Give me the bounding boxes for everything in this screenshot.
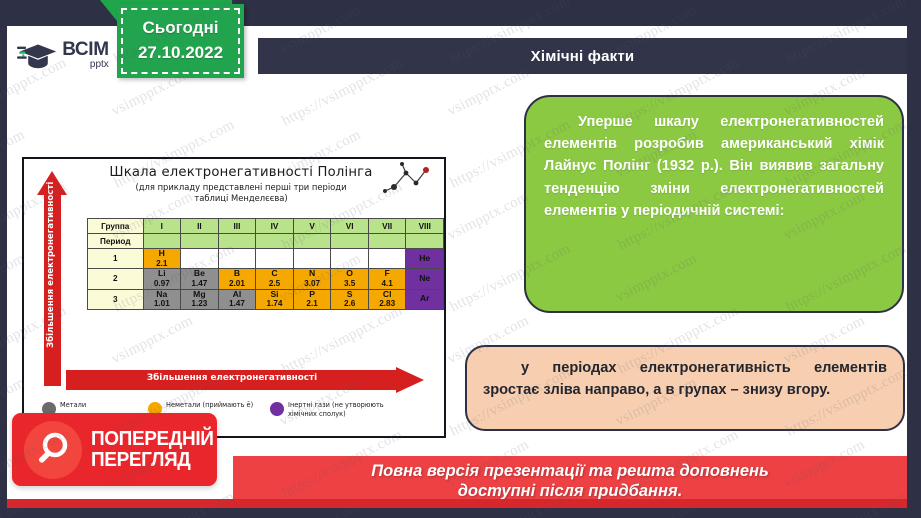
table-row: 2Li0.97Be1.47B2.01C2.5N3.07O3.5F4.1Ne <box>88 269 444 289</box>
element-cell-empty <box>368 249 406 269</box>
element-symbol: C <box>256 269 293 279</box>
magnifier-icon <box>24 421 82 479</box>
figure-title: Шкала електронегативності Полінга <box>76 165 406 180</box>
element-electronegativity-value: 3.5 <box>331 279 367 288</box>
page-title: Хімічні факти <box>531 48 635 65</box>
element-cell-Ne: Ne <box>406 269 444 289</box>
element-electronegativity-value: 1.47 <box>181 279 218 288</box>
element-cell-H: H2.1 <box>143 249 181 269</box>
date-card: Сьогодні 27.10.2022 <box>117 4 244 78</box>
element-cell-empty <box>256 249 294 269</box>
period-label-1: 1 <box>88 249 144 269</box>
element-electronegativity-value: 1.74 <box>256 299 293 308</box>
figure-subtitle-line1: (для прикладу представлені перші три пер… <box>135 182 346 192</box>
group-header-cell: Группа <box>88 219 144 234</box>
element-cell-empty <box>218 249 256 269</box>
purchase-banner-line1: Повна версія презентації та решта доповн… <box>371 462 769 482</box>
element-cell-Na: Na1.01 <box>143 289 181 309</box>
element-electronegativity-value: 0.97 <box>144 279 181 288</box>
horizontal-trend-arrow: Збільшення електронегативності <box>66 367 424 393</box>
element-electronegativity-value: 2.1 <box>144 259 181 268</box>
element-symbol: Be <box>181 269 218 279</box>
element-cell-C: C2.5 <box>256 269 294 289</box>
vertical-arrow-label: Збільшення електронегативності <box>46 188 56 348</box>
element-symbol: Si <box>256 290 293 300</box>
element-cell-N: N3.07 <box>293 269 331 289</box>
fact-paragraph-secondary: у періодах електронегативність елементів… <box>483 358 887 402</box>
period-header-cell: Период <box>88 234 144 249</box>
element-symbol: N <box>294 269 331 279</box>
element-symbol: Ar <box>406 294 443 304</box>
element-electronegativity-value: 2.1 <box>294 299 331 308</box>
element-electronegativity-value: 2.01 <box>219 279 256 288</box>
element-cell-He: He <box>406 249 444 269</box>
table-row-period-header: Период <box>88 234 444 249</box>
fact-text-box-primary: Уперше шкалу електронегативностей елемен… <box>524 95 904 313</box>
element-cell-Be: Be1.47 <box>181 269 219 289</box>
element-symbol: O <box>331 269 367 279</box>
fact-text-box-secondary: у періодах електронегативність елементів… <box>465 345 905 431</box>
preview-badge[interactable]: ПОПЕРЕДНІЙ ПЕРЕГЛЯД <box>12 413 217 486</box>
period-label-3: 3 <box>88 289 144 309</box>
logo-wordmark: ВСІМ <box>62 40 109 59</box>
element-electronegativity-value: 1.23 <box>181 299 218 308</box>
table-row-group-header: Группа I II III IV V VI VII VIII <box>88 219 444 234</box>
element-symbol: Ne <box>406 274 443 284</box>
element-cell-Si: Si1.74 <box>256 289 294 309</box>
electronegativity-scale-figure: Шкала електронегативності Полінга (для п… <box>22 157 446 438</box>
slide-header-bar: Хімічні факти <box>258 38 907 74</box>
brand-logo[interactable]: ВСІМ pptx <box>7 26 119 84</box>
element-cell-Ar: Ar <box>406 289 444 309</box>
element-cell-P: P2.1 <box>293 289 331 309</box>
element-symbol: Al <box>219 290 256 300</box>
legend-dot-noble-icon <box>270 402 284 416</box>
group-col-7: VII <box>368 219 406 234</box>
table-row: 1H2.1He <box>88 249 444 269</box>
horizontal-arrow-head-icon <box>396 367 424 393</box>
element-symbol: F <box>369 269 406 279</box>
preview-badge-line1: ПОПЕРЕДНІЙ <box>91 429 214 449</box>
element-electronegativity-value: 3.07 <box>294 279 331 288</box>
purchase-banner-strip <box>7 499 907 508</box>
legend-item-noble-gases: Інертні гази (не утворюють хімічних спол… <box>270 401 406 437</box>
legend-label-nonmetals: Неметали (приймають ē) <box>166 401 253 410</box>
element-cell-Cl: Cl2.83 <box>368 289 406 309</box>
slide-root: ВСІМ pptx Сьогодні 27.10.2022 Хімічні фа… <box>0 0 921 518</box>
element-cell-empty <box>331 249 368 269</box>
element-cell-F: F4.1 <box>368 269 406 289</box>
vertical-trend-arrow: Збільшення електронегативності <box>37 171 67 386</box>
element-electronegativity-value: 2.6 <box>331 299 367 308</box>
group-col-5: V <box>293 219 331 234</box>
group-col-8: VIII <box>406 219 444 234</box>
figure-title-block: Шкала електронегативності Полінга (для п… <box>76 165 406 203</box>
element-cell-empty <box>181 249 219 269</box>
watermark-text: https://vsimpptx.com <box>279 0 405 6</box>
figure-subtitle-line2: таблиці Менделєєва) <box>194 193 287 203</box>
horizontal-arrow-label: Збільшення електронегативності <box>66 373 398 383</box>
period-label-2: 2 <box>88 269 144 289</box>
element-symbol: Mg <box>181 290 218 300</box>
element-symbol: Li <box>144 269 181 279</box>
graduation-cap-icon <box>17 40 59 70</box>
element-cell-empty <box>293 249 331 269</box>
element-cell-Mg: Mg1.23 <box>181 289 219 309</box>
element-symbol: S <box>331 290 367 300</box>
element-electronegativity-value: 1.01 <box>144 299 181 308</box>
element-cell-Al: Al1.47 <box>218 289 256 309</box>
date-card-label: Сьогодні <box>143 16 219 41</box>
element-symbol: He <box>406 254 443 264</box>
group-col-4: IV <box>256 219 294 234</box>
element-symbol: Cl <box>369 290 406 300</box>
group-col-2: II <box>181 219 219 234</box>
element-symbol: B <box>219 269 256 279</box>
legend-label-metals: Метали <box>60 401 86 410</box>
element-cell-Li: Li0.97 <box>143 269 181 289</box>
element-electronegativity-value: 2.5 <box>256 279 293 288</box>
legend-label-noble-gases: Інертні гази (не утворюють хімічних спол… <box>288 401 406 419</box>
preview-badge-line2: ПЕРЕГЛЯД <box>91 450 214 470</box>
date-card-value: 27.10.2022 <box>138 41 223 66</box>
watermark-text: https://vsimpptx.com <box>0 0 70 6</box>
element-cell-S: S2.6 <box>331 289 368 309</box>
group-col-6: VI <box>331 219 368 234</box>
element-cell-B: B2.01 <box>218 269 256 289</box>
group-col-1: I <box>143 219 181 234</box>
molecule-doodle-icon <box>380 161 436 206</box>
element-electronegativity-value: 2.83 <box>369 299 406 308</box>
fact-paragraph-primary: Уперше шкалу електронегативностей елемен… <box>544 111 884 222</box>
logo-subtitle: pptx <box>62 60 109 70</box>
element-symbol: Na <box>144 290 181 300</box>
element-symbol: P <box>294 290 331 300</box>
element-symbol: H <box>144 249 181 259</box>
element-electronegativity-value: 4.1 <box>369 279 406 288</box>
table-row: 3Na1.01Mg1.23Al1.47Si1.74P2.1S2.6Cl2.83A… <box>88 289 444 309</box>
group-col-3: III <box>218 219 256 234</box>
element-cell-O: O3.5 <box>331 269 368 289</box>
group-header-fill <box>143 234 181 249</box>
electronegativity-table: Группа I II III IV V VI VII VIII Период <box>87 218 444 310</box>
element-electronegativity-value: 1.47 <box>219 299 256 308</box>
watermark-text: https://vsimpptx.com <box>615 0 741 6</box>
